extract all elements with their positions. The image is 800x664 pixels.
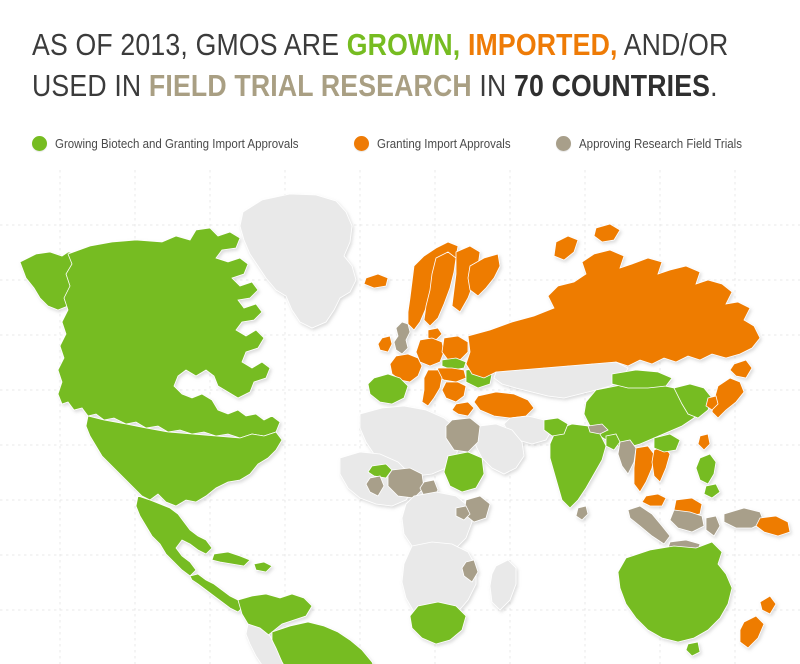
island-hispaniola[interactable] xyxy=(254,562,272,572)
title-seg-period: . xyxy=(710,68,718,103)
title-seg-space1 xyxy=(460,27,468,62)
title-seg-usedin: USED IN xyxy=(32,68,149,103)
legend: Growing Biotech and Granting Import Appr… xyxy=(32,136,790,151)
country-indonesia-sumatra[interactable] xyxy=(628,506,670,544)
country-cuba[interactable] xyxy=(212,552,250,566)
country-ireland[interactable] xyxy=(378,336,392,352)
country-brazil[interactable] xyxy=(272,622,382,664)
title-block: AS OF 2013, GMOS ARE GROWN, IMPORTED, AN… xyxy=(32,24,772,106)
country-south-africa[interactable] xyxy=(410,602,466,644)
map-landmasses[interactable] xyxy=(20,194,790,664)
title-seg-asof: AS OF 2013, GMOS ARE xyxy=(32,27,347,62)
legend-dot-tan-icon xyxy=(556,136,571,151)
country-taiwan[interactable] xyxy=(698,434,710,450)
country-mexico[interactable] xyxy=(136,496,212,576)
country-japan-north[interactable] xyxy=(730,360,752,378)
legend-dot-green-icon xyxy=(32,136,47,151)
country-russia-novaya-zemlya[interactable] xyxy=(554,236,578,260)
title-seg-andor: AND/OR xyxy=(618,27,729,62)
country-united-kingdom[interactable] xyxy=(394,322,410,354)
legend-item-orange[interactable]: Granting Import Approvals xyxy=(354,136,522,151)
country-italy[interactable] xyxy=(422,370,442,406)
world-map-svg[interactable] xyxy=(0,170,800,664)
country-myanmar[interactable] xyxy=(618,440,636,474)
country-poland[interactable] xyxy=(442,336,468,360)
title-seg-in: IN xyxy=(472,68,514,103)
country-sri-lanka[interactable] xyxy=(576,506,588,520)
legend-label-green: Growing Biotech and Granting Import Appr… xyxy=(55,137,299,151)
title-line-2: USED IN FIELD TRIAL RESEARCH IN 70 COUNT… xyxy=(32,65,668,106)
country-philippines[interactable] xyxy=(696,454,716,484)
region-central-america[interactable] xyxy=(190,574,244,612)
country-new-zealand[interactable] xyxy=(760,596,776,614)
country-canada[interactable] xyxy=(58,228,280,438)
country-madagascar[interactable] xyxy=(490,560,516,610)
country-papua-new-guinea-east[interactable] xyxy=(756,516,790,536)
country-balkans[interactable] xyxy=(442,382,466,402)
country-mongolia[interactable] xyxy=(612,370,672,388)
island-tasmania[interactable] xyxy=(686,642,700,656)
title-seg-imported: IMPORTED, xyxy=(468,27,618,62)
world-map-container[interactable] xyxy=(0,170,800,664)
country-thailand[interactable] xyxy=(634,446,654,492)
title-seg-countries: 70 COUNTRIES xyxy=(514,68,710,103)
country-india[interactable] xyxy=(550,424,606,508)
country-malaysia[interactable] xyxy=(642,494,666,506)
country-sudan[interactable] xyxy=(444,452,484,492)
title-seg-fieldtrial: FIELD TRIAL RESEARCH xyxy=(149,68,472,103)
country-turkey[interactable] xyxy=(474,392,534,418)
infographic-root: AS OF 2013, GMOS ARE GROWN, IMPORTED, AN… xyxy=(0,0,800,664)
legend-label-tan: Approving Research Field Trials xyxy=(579,137,742,151)
country-philippines-south[interactable] xyxy=(704,484,720,498)
title-seg-grown: GROWN, xyxy=(347,27,461,62)
country-new-zealand-south[interactable] xyxy=(740,616,764,648)
legend-label-orange: Granting Import Approvals xyxy=(377,137,511,151)
country-sulawesi[interactable] xyxy=(706,516,720,536)
country-australia[interactable] xyxy=(618,542,732,642)
region-indochina-east[interactable] xyxy=(654,434,680,452)
legend-dot-orange-icon xyxy=(354,136,369,151)
country-russia-arctic-island[interactable] xyxy=(594,224,620,242)
title-line-1: AS OF 2013, GMOS ARE GROWN, IMPORTED, AN… xyxy=(32,24,668,65)
country-germany[interactable] xyxy=(416,338,444,366)
country-greece[interactable] xyxy=(452,402,474,416)
country-iceland[interactable] xyxy=(364,274,388,288)
legend-item-tan[interactable]: Approving Research Field Trials xyxy=(556,136,756,151)
legend-item-green[interactable]: Growing Biotech and Granting Import Appr… xyxy=(32,136,320,151)
